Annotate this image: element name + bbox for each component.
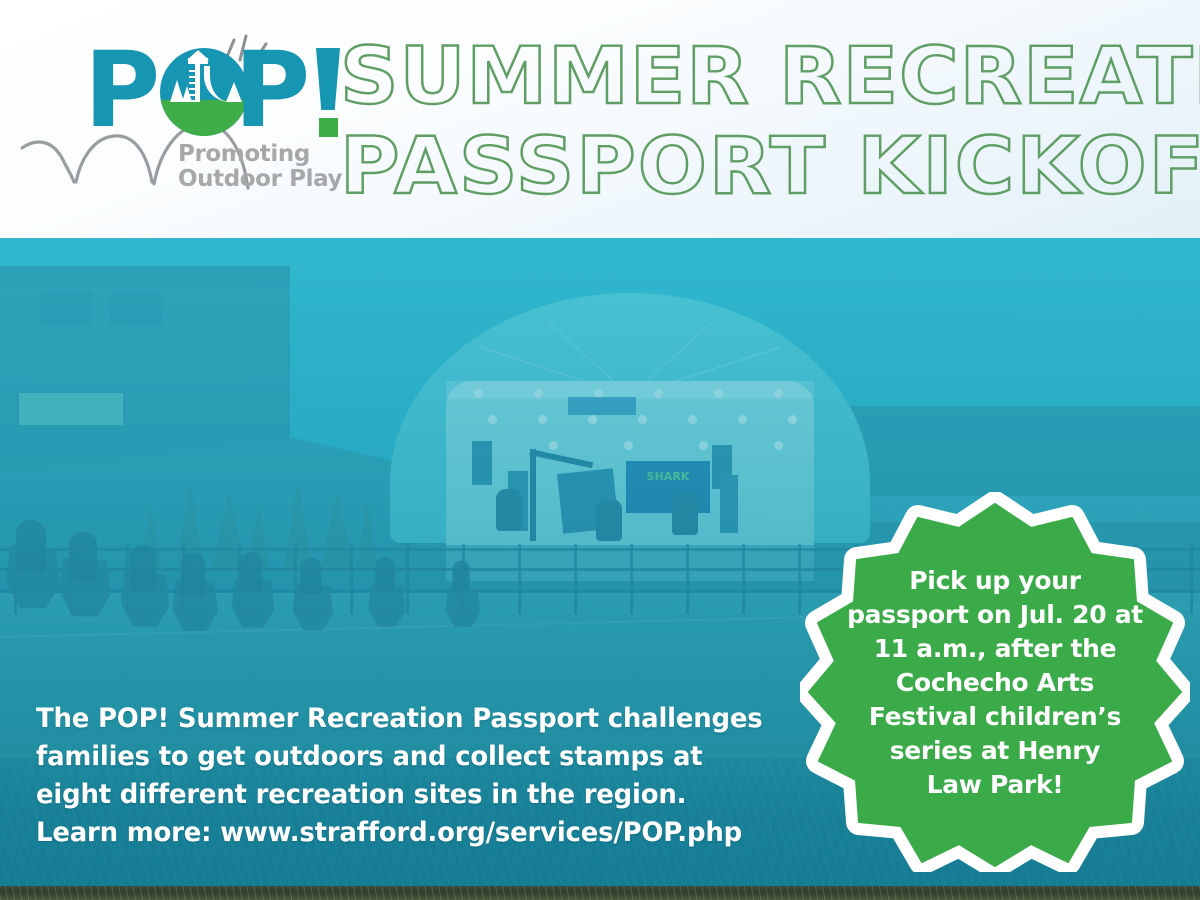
rail-post: [742, 544, 745, 614]
header-band: P P Promo: [0, 0, 1200, 238]
audience-person: [301, 558, 322, 594]
starburst-badge: Pick up your passport on Jul. 20 at 11 a…: [800, 492, 1190, 872]
left-building-roof: [0, 266, 290, 288]
body-copy-line-1: The POP! Summer Recreation Passport chal…: [36, 700, 766, 738]
rail-post: [350, 544, 353, 614]
left-building-window: [110, 292, 162, 326]
exclamation-stroke: [316, 48, 340, 110]
logo-letter-p-first: P: [84, 42, 157, 138]
rail-post: [574, 544, 577, 614]
performer: [596, 499, 622, 541]
audience-person: [375, 557, 394, 590]
headline-line-2: PASSPORT KICKOFF: [340, 122, 1200, 212]
badge-line-4: Cochecho Arts: [896, 666, 1094, 700]
badge-line-2: passport on Jul. 20 at: [847, 598, 1143, 632]
pop-logo: P P Promo: [18, 46, 348, 206]
rail-post: [1190, 544, 1193, 614]
badge-text: Pick up your passport on Jul. 20 at 11 a…: [852, 548, 1138, 818]
flyer-canvas: SHARK P: [0, 0, 1200, 900]
rail-post: [630, 544, 633, 614]
badge-line-7: Law Park!: [927, 768, 1064, 802]
rail-post: [406, 544, 409, 614]
left-building-gable: [20, 342, 150, 382]
badge-line-3: 11 a.m., after the: [874, 632, 1117, 666]
photo-bottom-edge-strip: [0, 886, 1200, 900]
rail-post: [518, 544, 521, 614]
body-copy: The POP! Summer Recreation Passport chal…: [36, 700, 766, 852]
logo-letter-p-second: P: [234, 42, 307, 138]
speaker-stand: [720, 475, 738, 533]
left-building-window: [16, 390, 126, 428]
stage-speaker: [472, 441, 492, 485]
stage-sign: [568, 397, 636, 415]
performer: [496, 489, 522, 531]
performer: [672, 493, 698, 535]
rail-post: [686, 544, 689, 614]
audience-person: [240, 552, 263, 592]
pop-wordmark: P P: [84, 46, 349, 146]
body-copy-line-3: eight different recreation sites in the …: [36, 776, 766, 814]
logo-ladder-icon: [189, 70, 198, 102]
body-copy-line-2: families to get outdoors and collect sta…: [36, 738, 766, 776]
audience-person: [130, 545, 156, 591]
headline-line-1: SUMMER RECREATION: [340, 32, 1200, 122]
badge-line-6: series at Henry: [890, 734, 1101, 768]
badge-line-5: Festival children’s: [869, 700, 1121, 734]
body-copy-url[interactable]: Learn more: www.strafford.org/services/P…: [36, 814, 766, 852]
exclamation-dot: [319, 118, 338, 137]
stage-banner-label: SHARK: [634, 471, 702, 482]
audience-person: [16, 520, 46, 572]
headline: SUMMER RECREATION PASSPORT KICKOFF: [340, 32, 1190, 212]
audience-person: [452, 561, 469, 591]
badge-line-1: Pick up your: [909, 564, 1080, 598]
stage-truss: [530, 449, 536, 541]
left-building-window: [40, 292, 92, 326]
audience-person: [181, 553, 206, 596]
audience-person: [69, 532, 97, 581]
